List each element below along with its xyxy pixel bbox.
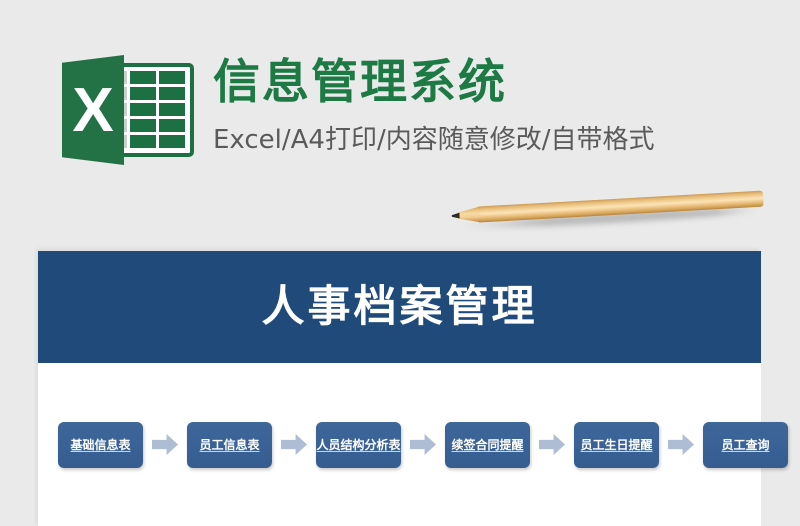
flow-button-birthday-reminder[interactable]: 员工生日提醒 <box>574 422 659 468</box>
flow-button-employee-query[interactable]: 员工查询 <box>703 422 788 468</box>
right-arrow-icon <box>281 434 307 455</box>
pencil-lead-icon <box>451 213 459 219</box>
flow-button-staff-structure-analysis[interactable]: 人员结构分析表 <box>316 422 401 468</box>
pencil-wood-tip <box>457 206 481 223</box>
navigation-flow: 基础信息表 员工信息表 人员结构分析表 续签合同提醒 员工生日提醒 员工查询 <box>38 363 761 526</box>
flow-button-employee-info[interactable]: 员工信息表 <box>187 422 272 468</box>
right-arrow-icon <box>539 434 565 455</box>
page-subtitle: Excel/A4打印/内容随意修改/自带格式 <box>213 119 654 156</box>
pencil-icon <box>451 185 764 236</box>
content-card: 人事档案管理 基础信息表 员工信息表 人员结构分析表 续签合同提醒 员工生日提醒… <box>38 251 761 526</box>
page-header: X 信息管理系统 Excel/A4打印/内容随意修改/自带格式 <box>0 0 800 190</box>
excel-logo-icon: X <box>62 55 194 165</box>
section-banner: 人事档案管理 <box>38 251 761 363</box>
right-arrow-icon <box>152 434 178 455</box>
flow-button-contract-renewal-reminder[interactable]: 续签合同提醒 <box>445 422 530 468</box>
excel-logo-letter: X <box>62 55 124 165</box>
flow-button-basic-info[interactable]: 基础信息表 <box>58 422 143 468</box>
banner-title: 人事档案管理 <box>262 286 538 329</box>
right-arrow-icon <box>668 434 694 455</box>
title-block: 信息管理系统 Excel/A4打印/内容随意修改/自带格式 <box>213 58 654 156</box>
right-arrow-icon <box>410 434 436 455</box>
page-title: 信息管理系统 <box>213 58 654 107</box>
